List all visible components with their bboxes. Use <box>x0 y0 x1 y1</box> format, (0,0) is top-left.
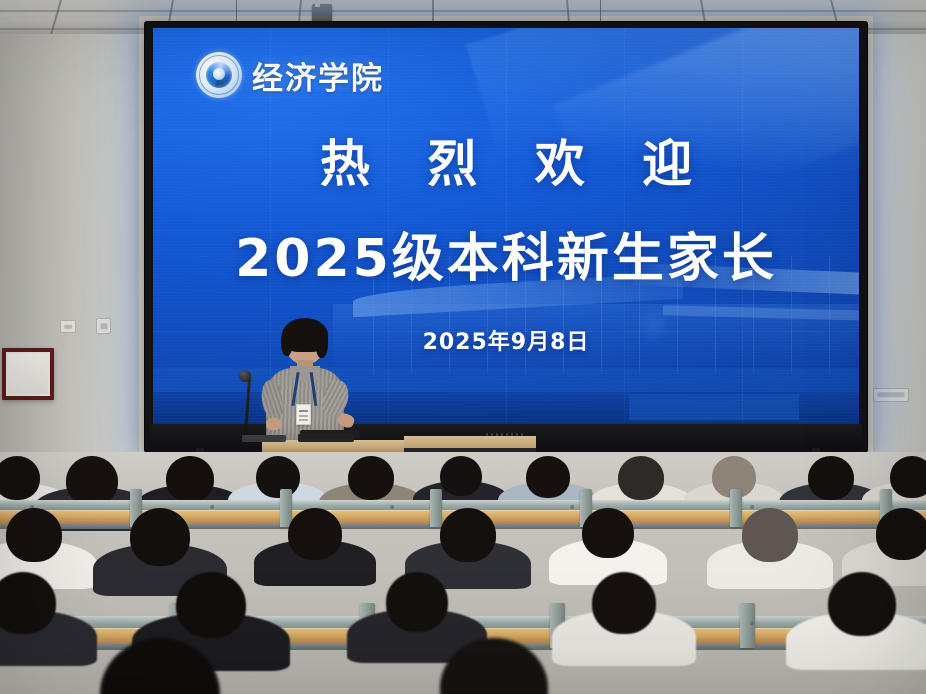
presenter <box>264 322 346 444</box>
wall-shadow-left <box>0 30 150 490</box>
audience-member-head <box>288 508 342 560</box>
id-badge <box>296 404 311 425</box>
notice-board <box>2 348 54 400</box>
audience-member-head <box>166 456 214 502</box>
audience-member-head <box>808 456 854 500</box>
desk-divider-post <box>430 489 442 527</box>
audience-member-head <box>526 456 570 498</box>
audience-member-head <box>742 508 798 562</box>
desk-screw <box>570 505 574 509</box>
wall-outlet-left-b[interactable] <box>96 318 111 334</box>
desk-screw <box>210 505 214 509</box>
audience-member-head <box>890 456 926 498</box>
stage-desk-surface <box>404 436 536 448</box>
audience-member-head <box>6 508 62 562</box>
desk-divider-post <box>740 603 755 648</box>
gooseneck-microphone-icon <box>239 370 251 382</box>
audience-member-head <box>440 456 482 496</box>
institution-name: 经济学院 <box>252 53 384 98</box>
wall-outlet-right[interactable] <box>873 388 909 402</box>
led-screen-display: 经济学院 热 烈 欢 迎 2025级本科新生家长 2025年9月8日 <box>153 28 859 432</box>
audience-member-head <box>440 508 496 562</box>
desk-screw <box>390 505 394 509</box>
wave-emblem-icon <box>196 52 242 98</box>
audience-member-head <box>66 456 118 506</box>
audience-member-head <box>876 508 926 560</box>
institution-branding: 经济学院 <box>196 52 384 98</box>
wall-outlet-left-a[interactable] <box>60 320 76 333</box>
audience-member-head <box>828 572 896 636</box>
audience-member-head <box>592 572 656 634</box>
event-date: 2025年9月8日 <box>153 324 859 356</box>
desk-screw <box>750 505 754 509</box>
desk-divider-post <box>730 489 742 527</box>
audience-member-head <box>0 456 40 500</box>
headline-primary: 热 烈 欢 迎 <box>153 124 859 196</box>
headline-secondary: 2025级本科新生家长 <box>153 216 859 291</box>
audience-member-head <box>348 456 394 500</box>
audience-member-head <box>130 508 190 566</box>
lecture-hall-photo: 经济学院 热 烈 欢 迎 2025级本科新生家长 2025年9月8日 <box>0 0 926 694</box>
audience-member-head <box>386 572 448 632</box>
audience-member-head <box>176 572 246 638</box>
audience-member-head <box>618 456 664 500</box>
audience-seating-area <box>0 452 926 694</box>
led-screen-frame: 经济学院 热 烈 欢 迎 2025级本科新生家长 2025年9月8日 <box>145 22 867 452</box>
audience-member-head <box>256 456 300 498</box>
audience-member-head <box>582 508 634 558</box>
